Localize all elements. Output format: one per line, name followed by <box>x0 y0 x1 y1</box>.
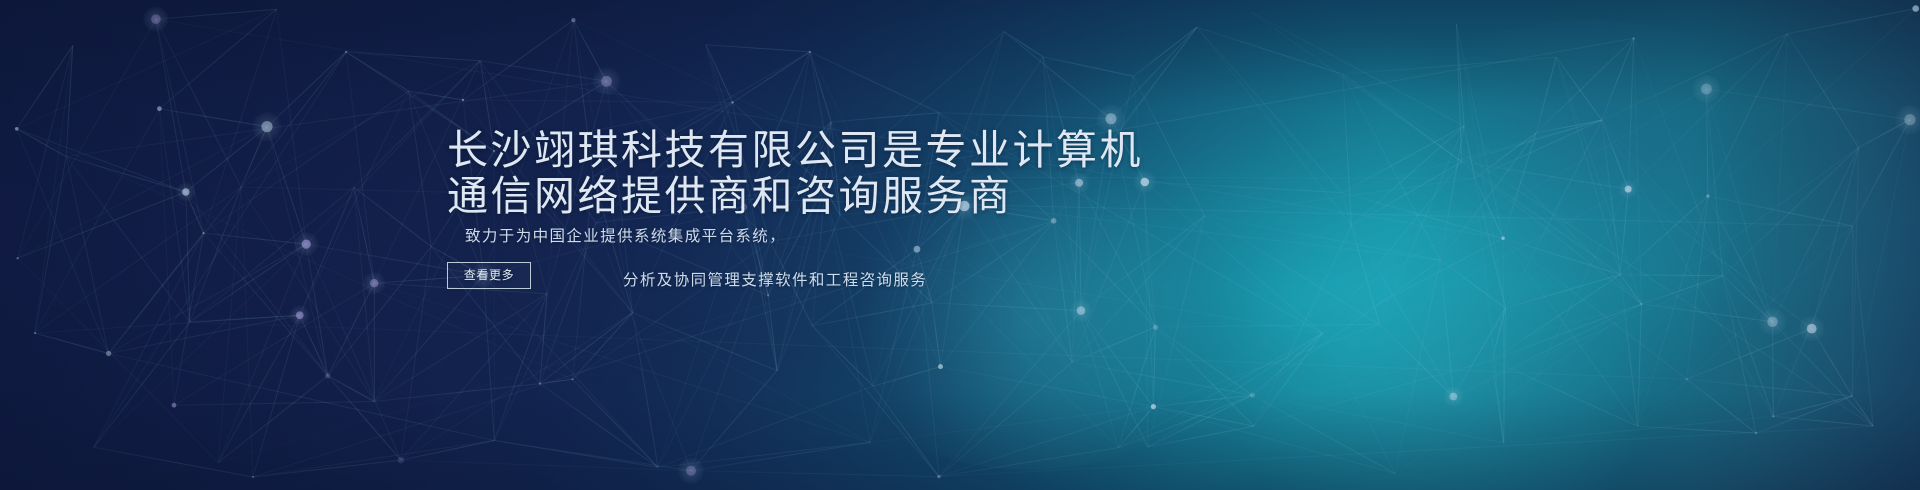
banner-content: 长沙翊琪科技有限公司是专业计算机 通信网络提供商和咨询服务商 致力于为中国企业提… <box>0 0 1920 490</box>
subtitle-line-1: 致力于为中国企业提供系统集成平台系统， <box>465 215 935 259</box>
banner-subtitle: 致力于为中国企业提供系统集成平台系统， 分析及协同管理支撑软件和工程咨询服务 <box>465 215 935 303</box>
banner-headline: 长沙翊琪科技有限公司是专业计算机 通信网络提供商和咨询服务商 <box>447 127 1143 219</box>
view-more-button[interactable]: 查看更多 <box>447 262 531 289</box>
headline-line-2: 通信网络提供商和咨询服务商 <box>447 173 1143 219</box>
headline-line-1: 长沙翊琪科技有限公司是专业计算机 <box>447 127 1143 173</box>
subtitle-line-2: 分析及协同管理支撑软件和工程咨询服务 <box>623 259 935 303</box>
hero-banner: 长沙翊琪科技有限公司是专业计算机 通信网络提供商和咨询服务商 致力于为中国企业提… <box>0 0 1920 490</box>
